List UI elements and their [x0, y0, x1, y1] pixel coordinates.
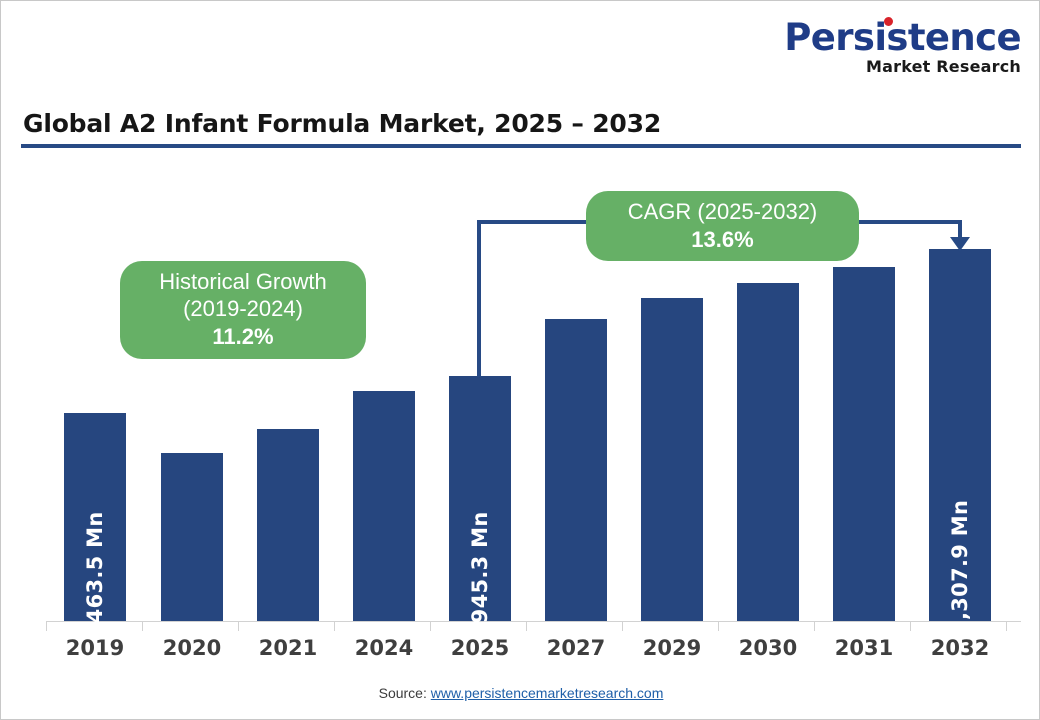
x-axis-label-2019: 2019: [64, 636, 126, 660]
historical-growth-callout: Historical Growth (2019-2024) 11.2%: [120, 261, 366, 359]
x-axis-tick: [910, 621, 911, 631]
chart-page: Persistence Market Research Global A2 In…: [0, 0, 1040, 720]
cagr-connector-horizontal-right: [855, 220, 962, 224]
x-axis-label-2029: 2029: [641, 636, 703, 660]
x-axis-tick: [622, 621, 623, 631]
historical-growth-line1: Historical Growth: [159, 269, 326, 296]
x-axis-tick: [430, 621, 431, 631]
x-axis-label-2021: 2021: [257, 636, 319, 660]
bar-2020[interactable]: [161, 453, 223, 621]
bar-value-label-2032: US$ 2,307.9 Mn: [948, 500, 972, 690]
logo-tagline: Market Research: [784, 59, 1021, 75]
x-axis-tick: [1006, 621, 1007, 631]
x-axis-label-2031: 2031: [833, 636, 895, 660]
bar-2019[interactable]: US$ 463.5 Mn: [64, 413, 126, 621]
bar-2021[interactable]: [257, 429, 319, 621]
logo-brand-label: Persistence: [784, 16, 1021, 59]
x-axis-label-2024: 2024: [353, 636, 415, 660]
cagr-callout: CAGR (2025-2032) 13.6%: [586, 191, 859, 261]
cagr-connector-vertical-left: [477, 220, 481, 377]
x-axis-label-2032: 2032: [929, 636, 991, 660]
bar-2027[interactable]: [545, 319, 607, 621]
cagr-line1: CAGR (2025-2032): [628, 199, 818, 226]
source-note: Source: www.persistencemarketresearch.co…: [1, 685, 1040, 701]
bar-2029[interactable]: [641, 298, 703, 621]
x-axis-label-2030: 2030: [737, 636, 799, 660]
x-axis-tick: [814, 621, 815, 631]
historical-growth-value: 11.2%: [212, 323, 273, 351]
bar-2030[interactable]: [737, 283, 799, 621]
x-axis-label-2020: 2020: [161, 636, 223, 660]
title-divider: [21, 144, 1021, 148]
x-axis-line: [46, 621, 1021, 622]
x-axis-tick: [526, 621, 527, 631]
cagr-arrowhead-icon: [950, 237, 970, 251]
x-axis-tick: [718, 621, 719, 631]
x-axis-tick: [142, 621, 143, 631]
x-axis-label-2027: 2027: [545, 636, 607, 660]
cagr-value: 13.6%: [691, 226, 753, 254]
bar-2032[interactable]: US$ 2,307.9 Mn: [929, 249, 991, 621]
bar-2031[interactable]: [833, 267, 895, 621]
historical-growth-line2: (2019-2024): [183, 296, 303, 323]
logo-brand-text: Persistence: [784, 19, 1021, 56]
source-link[interactable]: www.persistencemarketresearch.com: [431, 685, 664, 701]
x-axis-tick: [334, 621, 335, 631]
x-axis-label-2025: 2025: [449, 636, 511, 660]
company-logo: Persistence Market Research: [784, 19, 1021, 75]
x-axis-tick: [46, 621, 47, 631]
chart-plot-area: US$ 463.5 MnUS$ 945.3 MnUS$ 2,307.9 Mn 2…: [1, 151, 1040, 671]
x-axis-tick: [238, 621, 239, 631]
page-title: Global A2 Infant Formula Market, 2025 – …: [23, 109, 661, 138]
source-prefix: Source:: [379, 685, 431, 701]
bar-2024[interactable]: [353, 391, 415, 621]
bar-2025[interactable]: US$ 945.3 Mn: [449, 376, 511, 621]
cagr-connector-horizontal-left: [477, 220, 590, 224]
